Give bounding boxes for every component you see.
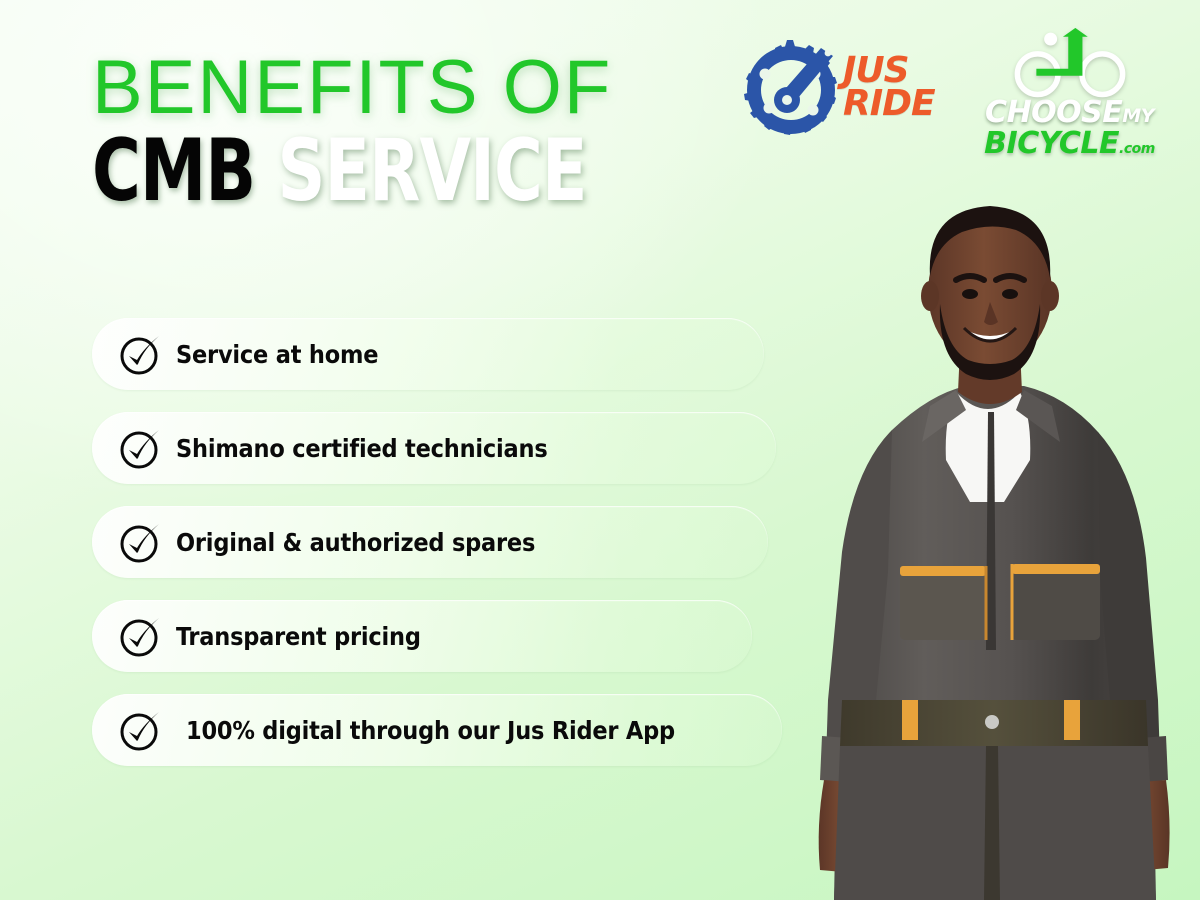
benefit-item-original-authorized-spares[interactable]: Original & authorized spares (92, 506, 768, 578)
check-circle-icon (118, 613, 164, 659)
chainring-crank-icon (735, 34, 847, 146)
choosemybicycle-line2: BICYCLE.com (967, 128, 1172, 160)
check-circle-icon (118, 331, 164, 377)
benefit-label: Transparent pricing (176, 622, 421, 651)
benefit-label: 100% digital through our Jus Rider App (186, 716, 675, 745)
technician-photo (780, 180, 1200, 900)
my-word: MY (1122, 105, 1154, 127)
jus-ride-logo[interactable]: JUS RIDE (735, 30, 940, 150)
bicycle-word: BICYCLE (984, 126, 1119, 161)
dotcom-word: .com (1119, 141, 1155, 157)
logo-row: JUS RIDE CHOOSEMY BICYCLE.com (735, 28, 1175, 168)
headline-service: SERVICE (277, 121, 586, 221)
check-circle-icon (118, 519, 164, 565)
jus-ride-wordmark: JUS RIDE (843, 54, 935, 120)
benefit-label: Original & authorized spares (176, 528, 535, 557)
headline-cmb: CMB (92, 121, 255, 221)
page-title: BENEFITS OF CMB SERVICE (92, 52, 712, 214)
benefit-item-100-percent-digital[interactable]: 100% digital through our Jus Rider App (92, 694, 782, 766)
choosemybicycle-line1: CHOOSEMY (967, 98, 1172, 128)
benefits-list: Service at home Shimano certified techni… (92, 318, 782, 788)
benefit-label: Service at home (176, 340, 378, 369)
choosemybicycle-logo[interactable]: CHOOSEMY BICYCLE.com (967, 28, 1172, 168)
headline-line-2: CMB SERVICE (92, 128, 625, 214)
check-circle-icon (118, 425, 164, 471)
benefit-label: Shimano certified technicians (176, 434, 548, 463)
benefit-item-shimano-certified-technicians[interactable]: Shimano certified technicians (92, 412, 776, 484)
bicycle-arrow-icon (1010, 28, 1130, 100)
jus-ride-line2: RIDE (843, 87, 935, 120)
benefit-item-transparent-pricing[interactable]: Transparent pricing (92, 600, 752, 672)
check-circle-icon (118, 707, 164, 753)
benefit-item-service-at-home[interactable]: Service at home (92, 318, 764, 390)
choose-word: CHOOSE (985, 95, 1122, 130)
headline-line-1: BENEFITS OF (92, 52, 712, 124)
